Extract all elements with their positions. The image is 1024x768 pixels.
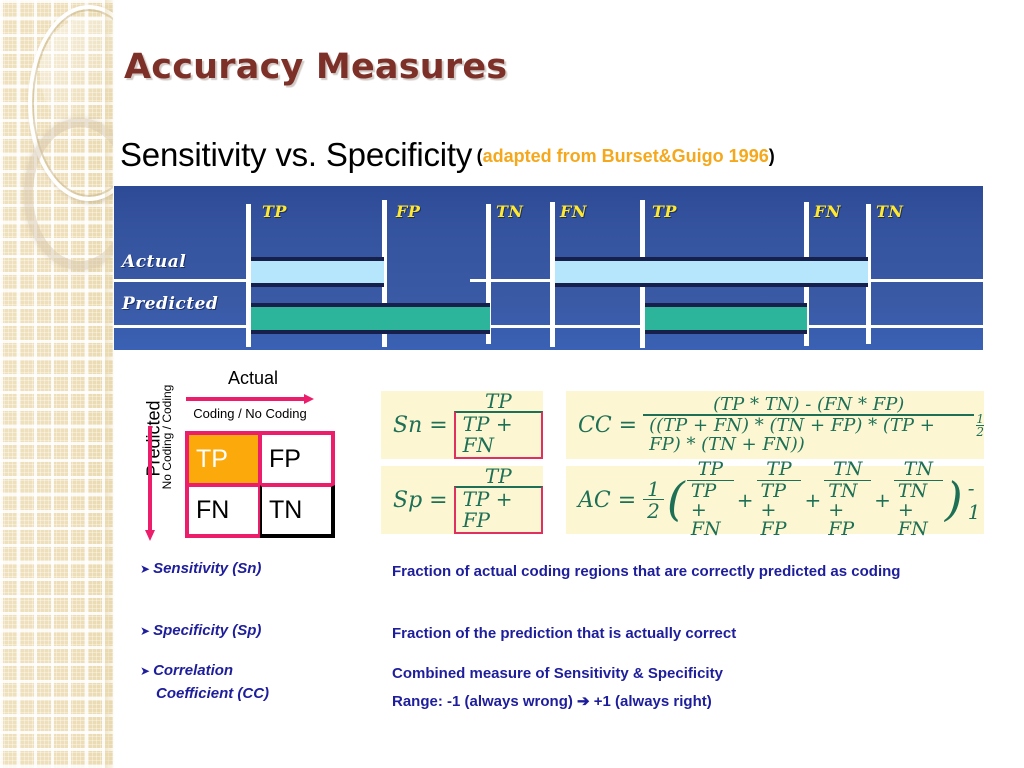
diagram-row-label-actual: Actual [122,252,186,272]
axis-label-actual: Actual [193,368,313,389]
formula-sn-fraction: TP TP + FN [454,391,543,459]
credit-text: adapted from Burset&Guigo 1996 [483,146,769,166]
formula-ac-t2-num: TP [761,460,796,479]
subtitle-credit: (adapted from Burset&Guigo 1996) [477,146,775,166]
formula-ac-op3: + [871,488,894,512]
diagram-tag-tp-2: TP [652,202,677,221]
diagram-tag-tp-1: TP [262,202,287,221]
formula-cc-fraction: (TP * TN) - (FN * FP) ((TP + FN) * (TN +… [643,396,974,454]
formula-ac-term3: TN TN + FP [824,460,871,540]
matrix-cell-fn[interactable]: FN [185,485,260,538]
confusion-matrix: TP FP FN TN [185,431,335,538]
bullet-desc-sensitivity: Fraction of actual coding regions that a… [392,560,1002,583]
predicted-band-1 [251,303,384,334]
formula-ac-half: 1 2 [642,479,665,522]
matrix-cell-tn[interactable]: TN [260,485,335,538]
formula-sp-fraction: TP TP + FP [454,466,543,534]
definitions-list: ➤Sensitivity (Sn) Fraction of actual cod… [140,560,1010,726]
formula-correlation-coefficient: CC = (TP * TN) - (FN * FP) ((TP + FN) * … [566,391,984,459]
formula-ac-term2: TP TP + FP [757,460,802,540]
predicted-band-2 [384,303,490,334]
formula-ac-term1: TP TP + FN [687,460,734,540]
list-item: ➤Sensitivity (Sn) Fraction of actual cod… [140,560,1010,608]
formula-cc-exponent: 1 2 [976,413,984,438]
formula-ac-half-num: 1 [642,479,665,499]
formula-sp-denominator: TP + FP [454,486,543,534]
bullet-arrow-icon: ➤ [140,664,150,678]
formula-ac-t3-num: TN [828,460,867,479]
diagram-tag-tn-1: TN [496,202,524,221]
axis-sublabel-actual: Coding / No Coding [150,406,350,421]
actual-band-1 [251,257,384,287]
baseline-actual-right [856,279,983,282]
list-item: ➤Specificity (Sp) Fraction of the predic… [140,622,1010,648]
bullet-desc-correlation: Combined measure of Sensitivity & Specif… [392,662,1002,685]
matrix-cell-tp[interactable]: TP [185,431,260,485]
subtitle-row: Sensitivity vs. Specificity (adapted fro… [120,136,775,174]
diagram-tag-fn-1: FN [560,202,587,221]
formula-cc-lhs: CC = [566,413,643,438]
formula-ac-t2-den: TP + FP [757,480,802,540]
sensitivity-specificity-diagram: Actual Predicted TP FP TN FN TP FN TN [114,186,983,350]
formula-specificity: Sp = TP TP + FP [381,466,543,534]
formula-cc-exp-num: 1 [976,413,984,425]
actual-band-2 [555,257,868,287]
formula-sp-lhs: Sp = [381,488,454,513]
formula-cc-numerator: (TP * TN) - (FN * FP) [705,396,912,414]
formula-ac-term4: TN TN + FN [894,460,943,540]
formula-ac-op2: + [801,488,824,512]
bullet-desc-correlation-range: Range: -1 (always wrong) ➔ +1 (always ri… [392,690,1002,713]
bullet-term-text: Sensitivity (Sn) [153,560,261,577]
formula-cc-exp-den: 2 [976,425,984,438]
formula-sn-denominator: TP + FN [454,411,543,459]
formula-ac-t4-num: TN [899,460,938,479]
bullet-desc-specificity: Fraction of the prediction that is actua… [392,622,1002,645]
baseline-predicted-right [804,325,983,328]
slide-canvas: Accuracy Measures Sensitivity vs. Specif… [0,0,1024,768]
diagram-tag-fp: FP [396,202,420,221]
formula-ac-t1-den: TP + FN [687,480,734,540]
formula-ac-op1: + [734,488,757,512]
confusion-matrix-block: Actual Coding / No Coding Predicted No C… [130,368,350,548]
subtitle-text: Sensitivity vs. Specificity [120,136,472,173]
bullet-term-text: Correlation [153,662,233,679]
bullet-term-specificity: ➤Specificity (Sp) [140,622,380,639]
formula-ac-open-paren: ( [665,481,687,519]
formula-approximate-correlation: AC = 1 2 ( TP TP + FN + TP TP + FP + TN … [566,466,984,534]
page-title: Accuracy Measures [124,47,507,87]
decorative-sidebar [0,0,113,768]
sidebar-edge-fade [105,0,115,768]
bullet-arrow-icon: ➤ [140,624,150,638]
baseline-predicted-mid [470,325,640,328]
predicted-axis-arrow-icon [144,426,156,541]
bullet-arrow-icon: ➤ [140,562,150,576]
diagram-row-label-predicted: Predicted [122,294,218,314]
predicted-band-3 [645,303,807,334]
bullet-term-correlation: ➤Correlation [140,662,380,679]
formula-sn-numerator: TP [477,391,520,411]
bullet-term-correlation-line2: Coefficient (CC) [156,685,396,702]
actual-axis-arrow-icon [186,394,314,404]
formula-ac-t4-den: TN + FN [894,480,943,540]
formula-sn-lhs: Sn = [381,413,454,438]
diagram-tag-fn-2: FN [814,202,841,221]
formula-cc-denominator: ((TP + FN) * (TN + FP) * (TP + FP) * (TN… [643,414,974,454]
bullet-term-text: Specificity (Sp) [153,622,261,639]
formula-ac-close-paren: ) [943,481,965,519]
list-item: ➤Correlation Coefficient (CC) Combined m… [140,662,1010,712]
formula-ac-t3-den: TN + FP [824,480,871,540]
bullet-term-sensitivity: ➤Sensitivity (Sn) [140,560,380,577]
formula-ac-t1-num: TP [693,460,728,479]
diagram-tag-tn-2: TN [876,202,904,221]
matrix-cell-fp[interactable]: FP [260,431,335,485]
axis-sublabel-predicted: No Coding / Coding [160,372,174,502]
formula-ac-lhs: AC = [566,488,642,513]
formula-sensitivity: Sn = TP TP + FN [381,391,543,459]
formula-ac-half-den: 2 [643,499,664,521]
credit-close-paren: ) [769,146,775,166]
formula-sp-numerator: TP [477,466,520,486]
formula-ac-tail: - 1 [965,476,984,524]
